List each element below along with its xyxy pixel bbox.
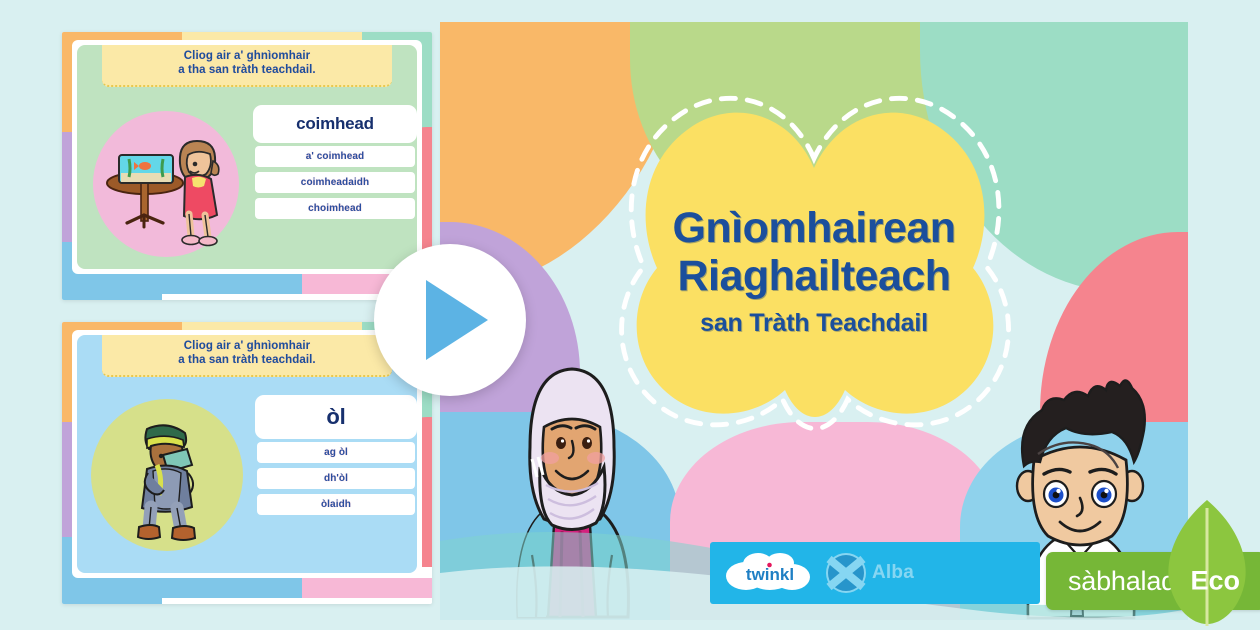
word-card-list: coimhead a' coimhead coimheadaidh choimh… [255,107,415,219]
strip-blue [62,274,302,294]
presentation-preview-image: Cliog air a' ghnìomhair a tha san tràth … [0,0,1260,630]
slide-title-block: Gnìomhairean Riaghailteach san Tràth Tea… [579,204,1049,338]
instruction-line-2: a tha san tràth teachdail. [106,63,388,77]
word-card-list: òl ag òl dh'òl òlaidh [257,397,415,515]
svg-text:twinkl: twinkl [746,565,794,584]
instruction-line-2: a tha san tràth teachdail. [106,353,388,367]
play-button[interactable] [374,244,526,396]
eco-label: Eco [1190,566,1240,597]
alba-label: Alba [872,562,914,584]
option-card[interactable]: òlaidh [257,494,415,515]
slide-thumbnail-ol[interactable]: Cliog air a' ghnìomhair a tha san tràth … [62,322,432,604]
instruction-line-1: Cliog air a' ghnìomhair [106,339,388,353]
girl-watching-fish-tank-illustration [93,111,239,257]
target-word-card[interactable]: òl [257,397,415,437]
picture-circle [91,399,243,551]
instruction-line-1: Cliog air a' ghnìomhair [106,49,388,63]
main-slide: Gnìomhairean Riaghailteach san Tràth Tea… [440,22,1188,620]
play-triangle-icon [426,280,488,360]
strip-pink [302,578,432,598]
thumbnail-slide-card: Cliog air a' ghnìomhair a tha san tràth … [72,40,422,274]
option-card[interactable]: ag òl [257,442,415,463]
target-word-card[interactable]: coimhead [255,107,415,141]
eco-savings-badge: sàbhaladh inc Eco [1046,552,1260,610]
thumbnail-slide-card: Cliog air a' ghnìomhair a tha san tràth … [72,330,422,578]
scotland-saltire-flag-icon [826,553,866,593]
option-card[interactable]: dh'òl [257,468,415,489]
leaf-icon [1160,498,1254,626]
activity-panel: Cliog air a' ghnìomhair a tha san tràth … [77,335,417,573]
page-title-line-1: Gnìomhairean [579,204,1049,252]
option-card[interactable]: a' coimhead [255,146,415,167]
picture-circle [93,111,239,257]
slide-thumbnail-coimhead[interactable]: Cliog air a' ghnìomhair a tha san tràth … [62,32,432,300]
option-card[interactable]: choimhead [255,198,415,219]
child-drinking-from-cup-illustration [91,399,243,551]
activity-panel: Cliog air a' ghnìomhair a tha san tràth … [77,45,417,269]
alba-logo: Alba [826,553,914,593]
instruction-banner: Cliog air a' ghnìomhair a tha san tràth … [102,335,392,377]
girl-with-hijab-character [492,355,652,620]
page-title-line-2: Riaghailteach [579,252,1049,300]
instruction-banner: Cliog air a' ghnìomhair a tha san tràth … [102,45,392,87]
option-card[interactable]: coimheadaidh [255,172,415,193]
strip-blue [62,578,302,598]
twinkl-logo: twinkl [724,550,816,596]
branding-bar: twinkl Alba [710,542,1040,604]
page-subtitle: san Tràth Teachdail [579,309,1049,338]
